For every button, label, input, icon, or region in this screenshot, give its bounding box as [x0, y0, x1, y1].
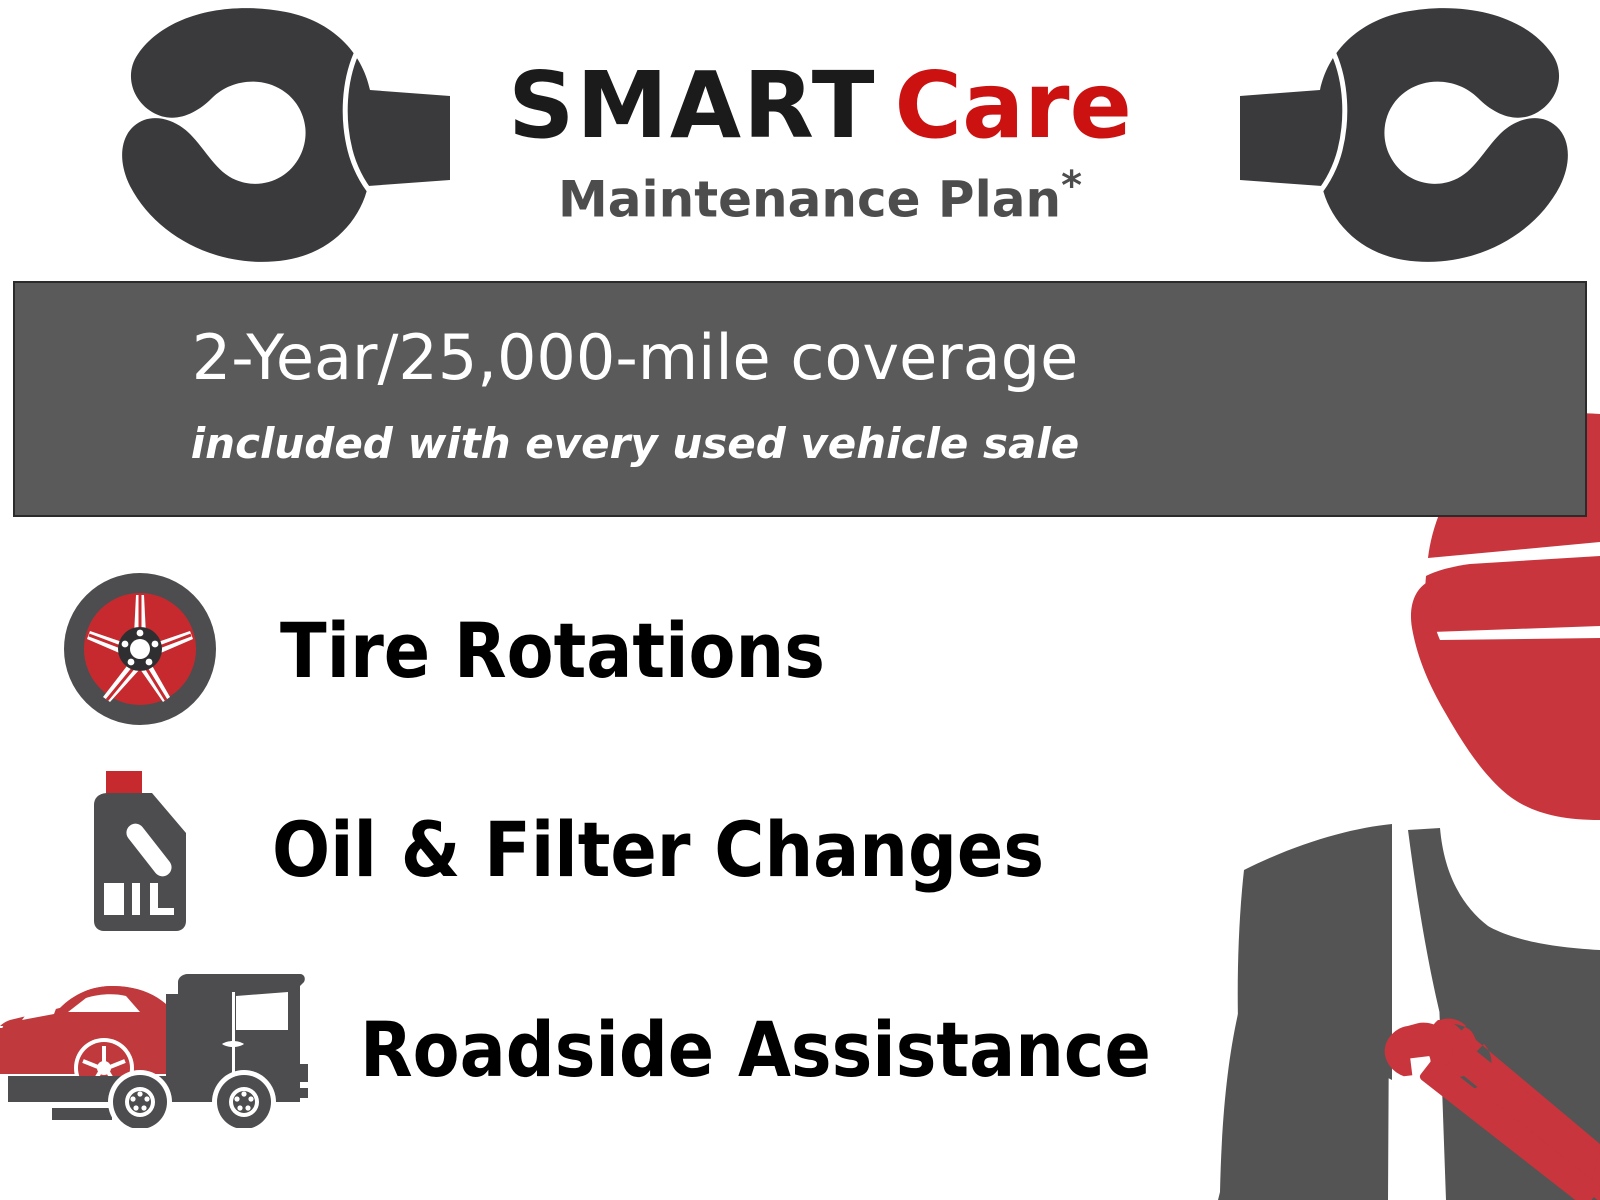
tire-wheel-icon [60, 569, 220, 734]
brand-name-smart: SMART [508, 52, 876, 159]
coverage-subline: included with every used vehicle sale [15, 423, 1255, 465]
logo-subtitle-text: Maintenance Plan [558, 171, 1061, 229]
brand-name-care: Care [895, 52, 1132, 159]
coverage-headline: 2-Year/25,000-mile coverage [15, 327, 1255, 389]
oil-bottle-icon [80, 763, 200, 938]
logo-header: SMARTCare Maintenance Plan* [0, 0, 1600, 278]
smart-care-maintenance-plan-graphic: SMARTCare Maintenance Plan* 2-Year/25,00… [0, 0, 1600, 1200]
feature-label-oil-filter-changes: Oil & Filter Changes [272, 812, 1044, 888]
feature-label-tire-rotations: Tire Rotations [280, 613, 825, 689]
feature-item-tire-rotations: Tire Rotations [60, 556, 825, 746]
tow-truck-icon [0, 968, 330, 1133]
logo-subtitle: Maintenance Plan* [400, 166, 1240, 225]
logo-subtitle-asterisk: * [1061, 163, 1082, 209]
feature-item-roadside-assistance: Roadside Assistance [0, 960, 1151, 1140]
coverage-banner: 2-Year/25,000-mile coverage included wit… [13, 281, 1587, 517]
logo-text-block: SMARTCare Maintenance Plan* [400, 60, 1240, 225]
wrench-icon-right [1240, 8, 1570, 266]
feature-item-oil-filter-changes: Oil & Filter Changes [80, 760, 1044, 940]
brand-wordmark: SMARTCare [400, 60, 1240, 152]
feature-label-roadside-assistance: Roadside Assistance [360, 1012, 1151, 1088]
